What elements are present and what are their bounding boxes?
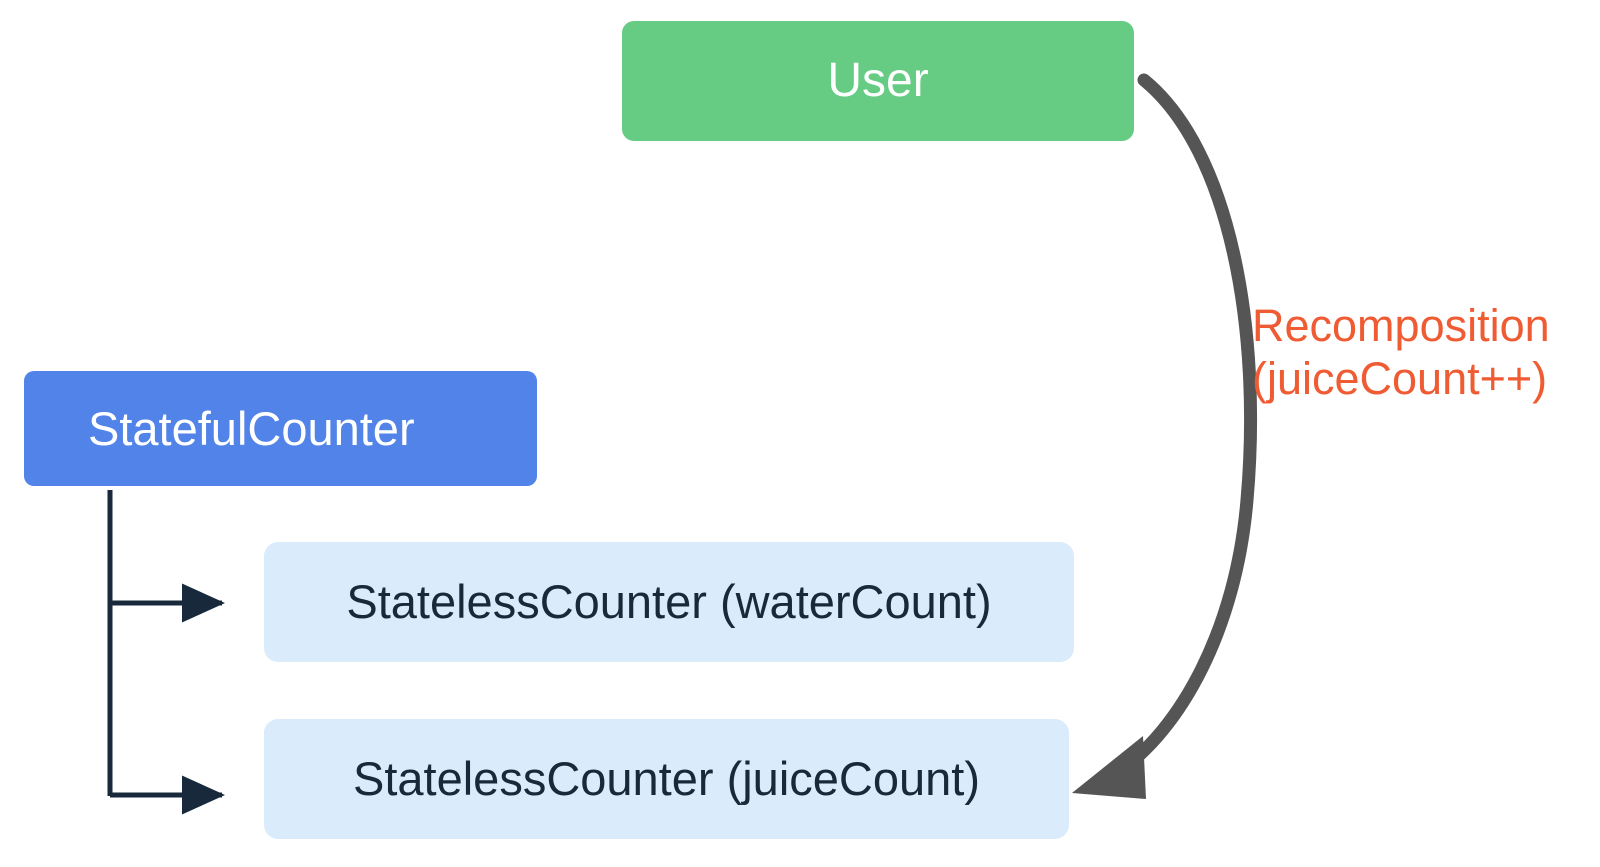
recomposition-arrow-head <box>1072 736 1146 799</box>
node-stateless-counter-water-label: StatelessCounter (waterCount) <box>264 576 1074 628</box>
node-stateless-counter-water[interactable]: StatelessCounter (waterCount) <box>264 542 1074 662</box>
node-stateless-counter-juice[interactable]: StatelessCounter (juiceCount) <box>264 719 1069 839</box>
recomposition-arrow-curve <box>1118 80 1251 772</box>
node-stateful-counter-label: StatefulCounter <box>88 403 537 455</box>
diagram-canvas: User StatefulCounter StatelessCounter (w… <box>0 0 1600 867</box>
node-stateless-counter-juice-label: StatelessCounter (juiceCount) <box>264 753 1069 805</box>
node-user[interactable]: User <box>622 21 1134 141</box>
node-user-label: User <box>622 55 1134 108</box>
node-stateful-counter[interactable]: StatefulCounter <box>24 371 537 486</box>
recomposition-annotation-label: Recomposition (juiceCount++) <box>1252 299 1592 405</box>
